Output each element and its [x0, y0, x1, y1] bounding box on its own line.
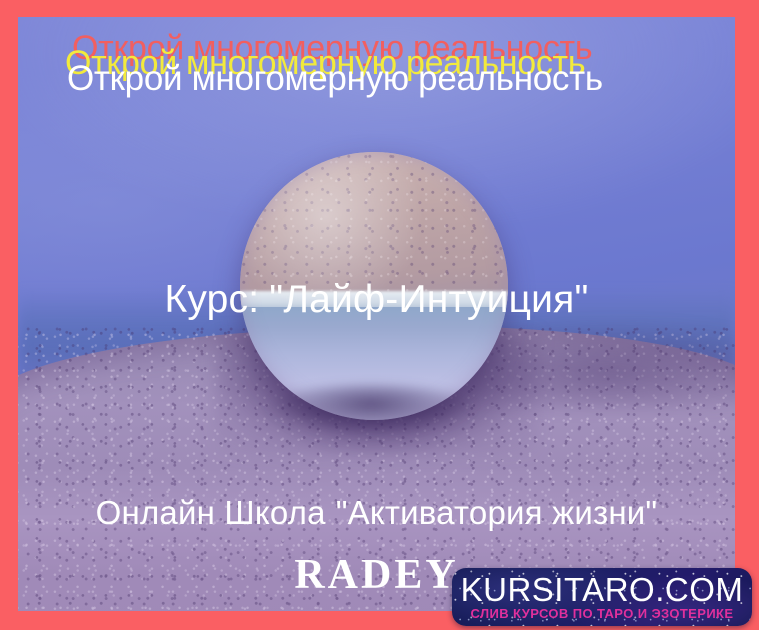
school-prefix: Онлайн Школа [96, 494, 326, 531]
school-name-line: Онлайн Школа"Активатория жизни" [18, 494, 735, 532]
sand-ridge-shadow [469, 317, 735, 410]
course-title: "Лайф-Интуиция" [269, 278, 588, 321]
watermark-domain: KURSITARO.COM [452, 571, 752, 609]
watermark-tagline: СЛИВ КУРСОВ ПО ТАРО И ЭЗОТЕРИКЕ [452, 606, 752, 621]
promo-card: Открой многомерную реальность Открой мно… [0, 0, 759, 630]
course-label: Курс: [164, 278, 259, 321]
school-name: "Активатория жизни" [336, 494, 658, 531]
course-title-line: Курс:"Лайф-Интуиция" [18, 278, 735, 322]
watermark-badge[interactable]: KURSITARO.COM СЛИВ КУРСОВ ПО ТАРО И ЭЗОТ… [452, 568, 752, 626]
scene-photo: Открой многомерную реальность Открой мно… [18, 17, 735, 611]
sphere-contact-shadow [266, 385, 476, 433]
